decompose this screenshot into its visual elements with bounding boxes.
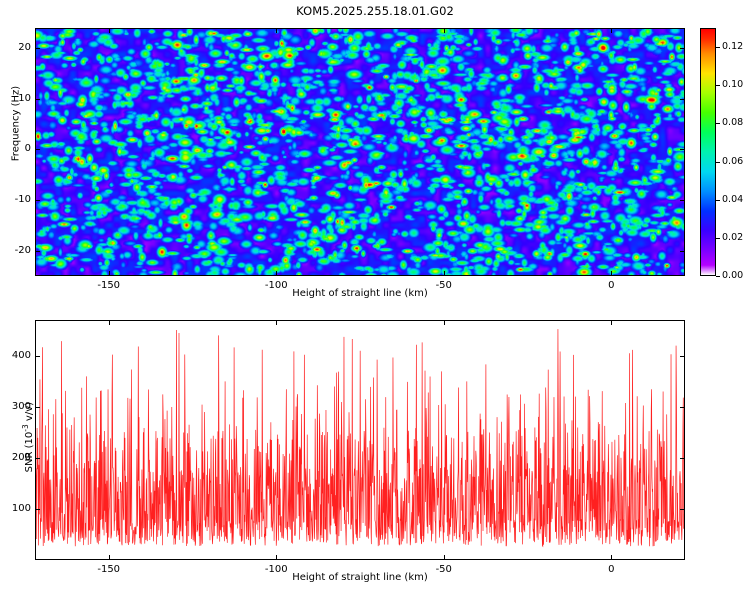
colorbar-tick-label: 0.04	[722, 194, 743, 205]
bottom-xtick-upper	[109, 320, 110, 325]
bottom-ytick-right	[680, 458, 685, 459]
snr-trace	[36, 321, 684, 559]
figure-root: KOM5.2025.255.18.01.G02 Height of straig…	[0, 0, 750, 600]
top-ytick-label: -10	[0, 194, 31, 205]
colorbar-tick	[716, 276, 720, 277]
bottom-ytick-right	[680, 356, 685, 357]
top-ytick-label: 10	[0, 93, 31, 104]
spectrogram-panel	[35, 28, 685, 276]
bottom-y-axis-label-exponent: -3	[21, 424, 30, 431]
top-ytick	[35, 99, 40, 100]
bottom-xtick-label: -100	[246, 564, 306, 575]
top-xtick-label: -50	[414, 280, 474, 291]
bottom-ytick	[35, 407, 40, 408]
top-xtick-upper	[444, 28, 445, 33]
top-ytick-right	[680, 48, 685, 49]
colorbar-gradient	[700, 28, 716, 276]
bottom-xtick-upper	[444, 320, 445, 325]
top-ytick	[35, 251, 40, 252]
bottom-xtick-upper	[276, 320, 277, 325]
top-ytick-right	[680, 200, 685, 201]
colorbar-tick-label: 0.10	[722, 79, 743, 90]
colorbar-tick	[716, 200, 720, 201]
top-xtick	[109, 271, 110, 276]
top-ytick-label: 20	[0, 42, 31, 53]
snr-panel	[35, 320, 685, 560]
bottom-ytick-label: 200	[0, 452, 31, 463]
top-xtick	[611, 271, 612, 276]
colorbar-tick-label: 0.06	[722, 156, 743, 167]
colorbar-tick	[716, 47, 720, 48]
bottom-y-axis-label: SNR (10-3 v/v)	[21, 357, 35, 517]
bottom-ytick-right	[680, 407, 685, 408]
colorbar-tick-label: 0.08	[722, 117, 743, 128]
spectrogram-canvas	[36, 29, 684, 275]
colorbar-tick	[716, 85, 720, 86]
bottom-xtick-label: -150	[79, 564, 139, 575]
top-ytick-right	[680, 99, 685, 100]
colorbar-tick	[716, 162, 720, 163]
colorbar	[700, 28, 716, 276]
bottom-ytick	[35, 458, 40, 459]
colorbar-tick	[716, 238, 720, 239]
top-ytick-right	[680, 251, 685, 252]
bottom-xtick	[611, 555, 612, 560]
top-xtick-label: 0	[581, 280, 641, 291]
colorbar-tick-label: 0.00	[722, 270, 743, 281]
bottom-xtick	[276, 555, 277, 560]
top-xtick-label: -150	[79, 280, 139, 291]
top-ytick	[35, 149, 40, 150]
bottom-xtick-label: 0	[581, 564, 641, 575]
bottom-xtick	[444, 555, 445, 560]
top-y-axis-label: Frequency (Hz)	[11, 64, 22, 184]
top-ytick	[35, 200, 40, 201]
top-ytick	[35, 48, 40, 49]
top-xtick-label: -100	[246, 280, 306, 291]
spectrogram-plot-area	[35, 28, 685, 276]
colorbar-tick-label: 0.12	[722, 41, 743, 52]
bottom-xtick	[109, 555, 110, 560]
bottom-ytick	[35, 356, 40, 357]
snr-plot-area	[35, 320, 685, 560]
page-title: KOM5.2025.255.18.01.G02	[0, 4, 750, 18]
bottom-xtick-upper	[611, 320, 612, 325]
colorbar-tick-label: 0.02	[722, 232, 743, 243]
bottom-ytick-right	[680, 509, 685, 510]
bottom-ytick-label: 300	[0, 401, 31, 412]
top-ytick-right	[680, 149, 685, 150]
bottom-ytick-label: 400	[0, 350, 31, 361]
bottom-ytick	[35, 509, 40, 510]
top-ytick-label: 0	[0, 143, 31, 154]
top-xtick-upper	[611, 28, 612, 33]
bottom-ytick-label: 100	[0, 503, 31, 514]
bottom-xtick-label: -50	[414, 564, 474, 575]
top-xtick	[276, 271, 277, 276]
top-xtick-upper	[276, 28, 277, 33]
colorbar-tick	[716, 123, 720, 124]
top-xtick	[444, 271, 445, 276]
top-xtick-upper	[109, 28, 110, 33]
top-ytick-label: -20	[0, 245, 31, 256]
